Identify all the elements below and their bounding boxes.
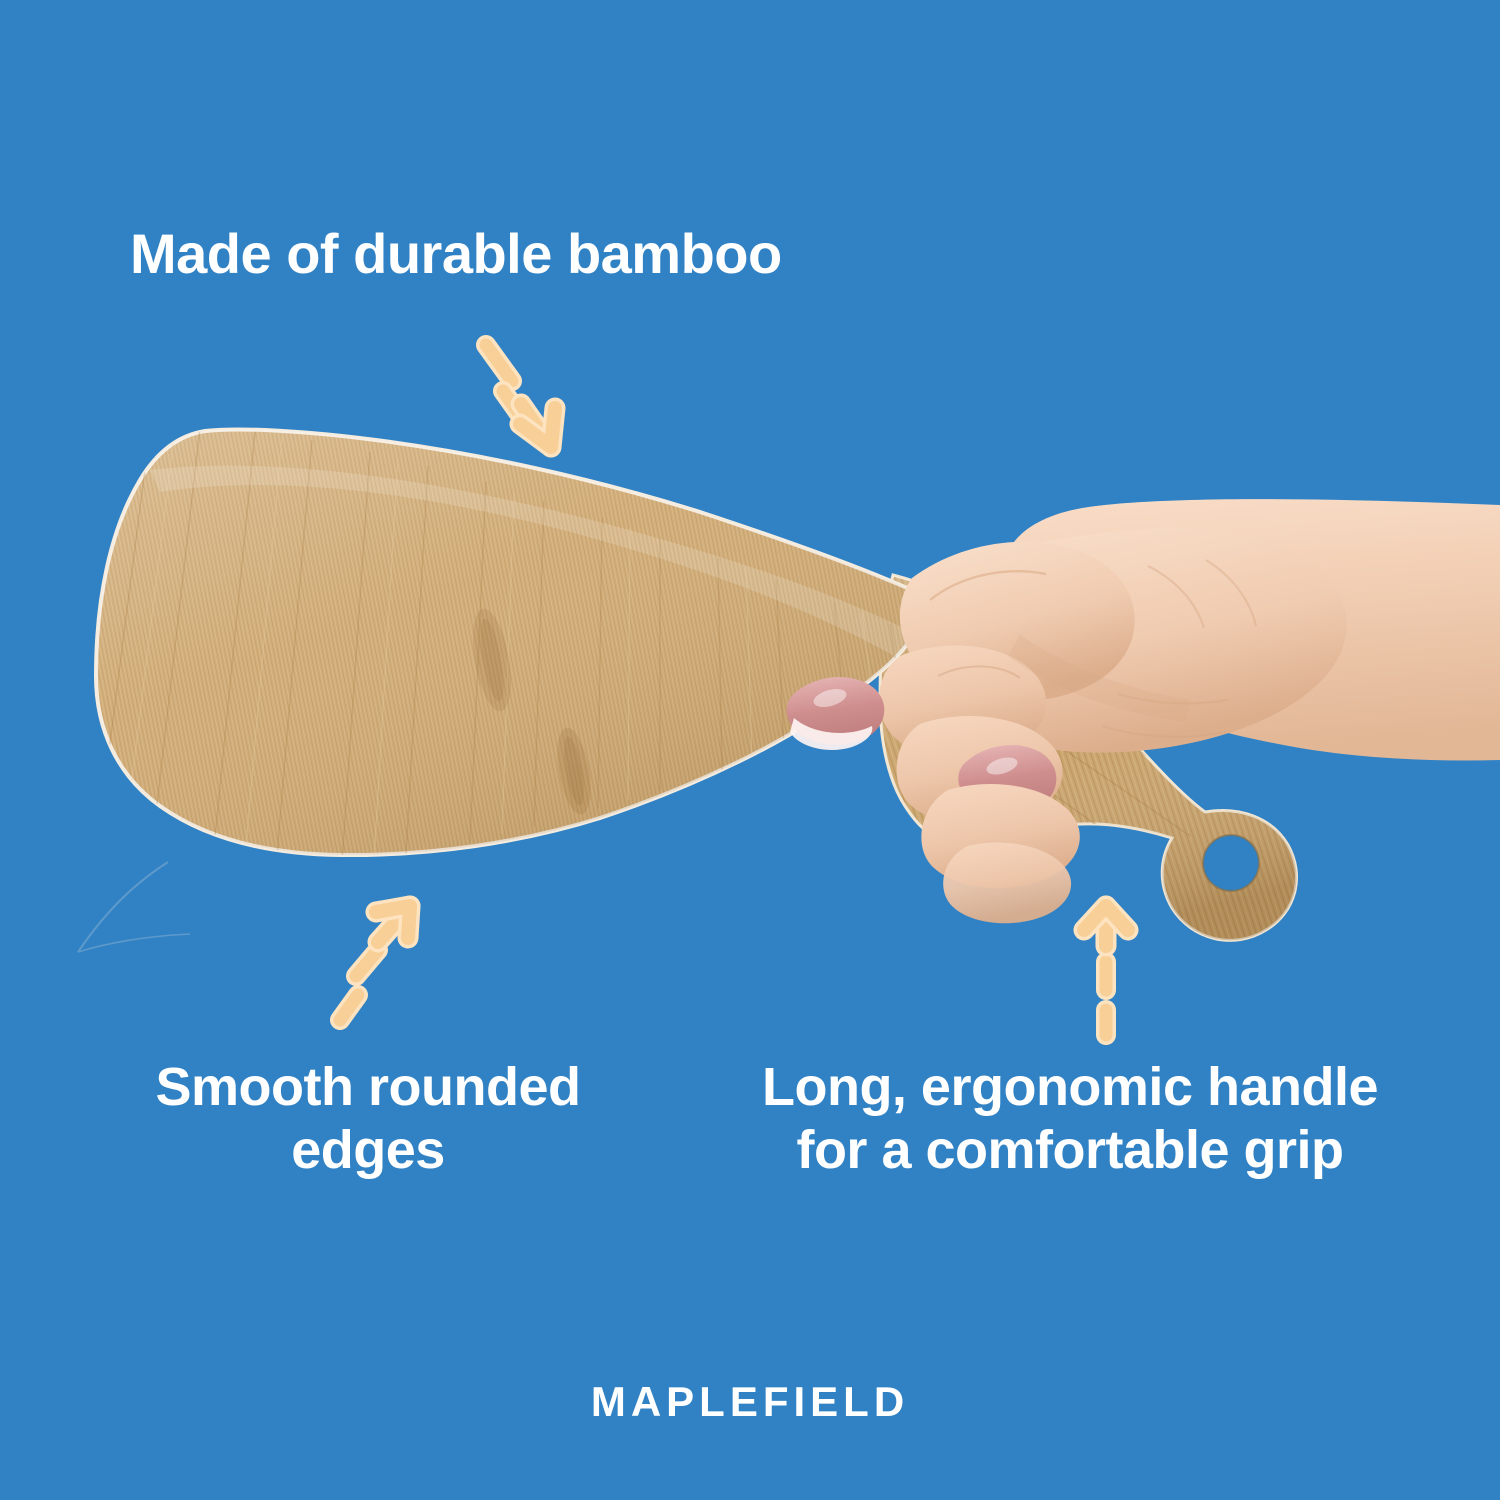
brand-logo: MapleField [0,1366,1500,1426]
cutout-artifact [78,862,190,952]
infographic-canvas: Made of durable bamboo Smooth rounded ed… [0,0,1500,1500]
hand-holding-paddle [787,499,1500,923]
callout-smooth-rounded-edges: Smooth rounded edges [58,1056,678,1181]
callout-made-of-durable-bamboo: Made of durable bamboo [130,222,1030,287]
paddle-blade [80,410,960,880]
callout-long-ergonomic-handle: Long, ergonomic handle for a comfortable… [690,1056,1450,1181]
